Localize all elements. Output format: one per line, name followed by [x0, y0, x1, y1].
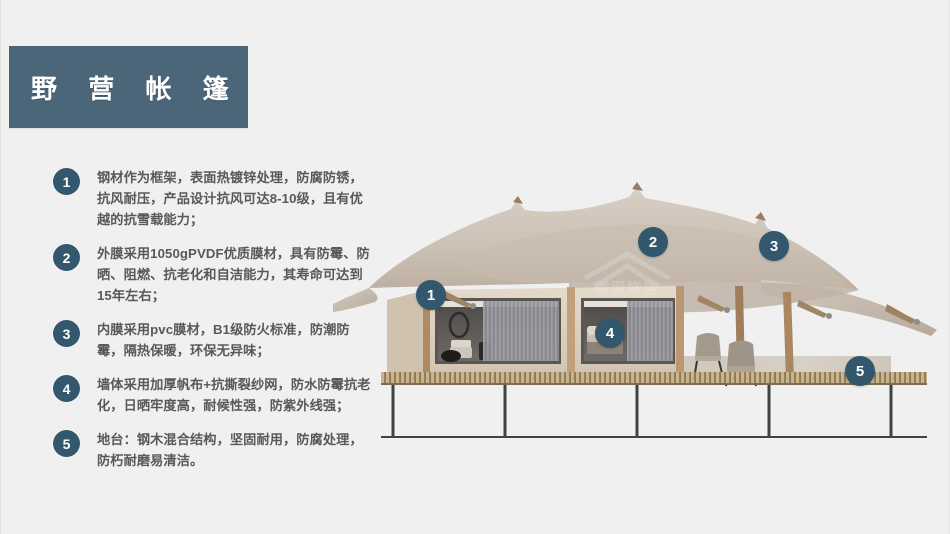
tension-fitting-2: [724, 307, 730, 313]
slide-canvas: 野 营 帐 篷 1 钢材作为框架，表面热镀锌处理，防腐防锈，抗风耐压，产品设计抗…: [0, 0, 950, 534]
platform-edge-line: [381, 383, 927, 385]
sink-shape: [451, 340, 471, 348]
feature-list: 1 钢材作为框架，表面热镀锌处理，防腐防锈，抗风耐压，产品设计抗风可达8-10级…: [53, 167, 373, 471]
tension-fitting-4: [914, 319, 920, 325]
tension-fitting-1: [470, 303, 476, 309]
feature-badge-4: 4: [53, 375, 80, 402]
tent-marker-4[interactable]: 4: [595, 318, 625, 348]
feature-badge-1: 1: [53, 168, 80, 195]
feature-badge-5: 5: [53, 430, 80, 457]
tension-fitting-3: [826, 313, 832, 319]
title-banner: 野 营 帐 篷: [9, 46, 248, 128]
curtain-2: [627, 301, 673, 361]
chair-right: [727, 341, 755, 369]
tent-marker-2[interactable]: 2: [638, 227, 668, 257]
corner-post-middle: [567, 287, 575, 373]
corner-post-right: [676, 286, 684, 372]
chair-left: [695, 333, 721, 358]
curtain-1: [483, 301, 559, 361]
tent-marker-5[interactable]: 5: [845, 356, 875, 386]
feature-badge-2: 2: [53, 244, 80, 271]
list-item: 3 内膜采用pvc膜材，B1级防火标准，防潮防霉，隔热保暖，环保无异味；: [53, 319, 373, 361]
canopy-peak-center: [632, 182, 643, 191]
basket-shape: [441, 350, 461, 362]
list-item: 5 地台：钢木混合结构，坚固耐用，防腐处理，防朽耐磨易清洁。: [53, 429, 373, 471]
list-item: 1 钢材作为框架，表面热镀锌处理，防腐防锈，抗风耐压，产品设计抗风可达8-10级…: [53, 167, 373, 230]
canopy-left-wing: [333, 288, 377, 312]
chair-left-seat: [695, 356, 721, 361]
page-title: 野 营 帐 篷: [9, 69, 241, 106]
tent-marker-3[interactable]: 3: [759, 231, 789, 261]
list-item: 2 外膜采用1050gPVDF优质膜材，具有防霉、防晒、阻燃、抗老化和自洁能力，…: [53, 243, 373, 306]
canopy-peak-left: [513, 196, 523, 204]
chair-right-seat: [727, 366, 755, 372]
feature-badge-3: 3: [53, 320, 80, 347]
tent-marker-1[interactable]: 1: [416, 280, 446, 310]
list-item: 4 墙体采用加厚帆布+抗撕裂纱网，防水防霉抗老化，日晒牢度高，耐候性强，防紫外线…: [53, 374, 373, 416]
platform-legs: [393, 385, 891, 437]
